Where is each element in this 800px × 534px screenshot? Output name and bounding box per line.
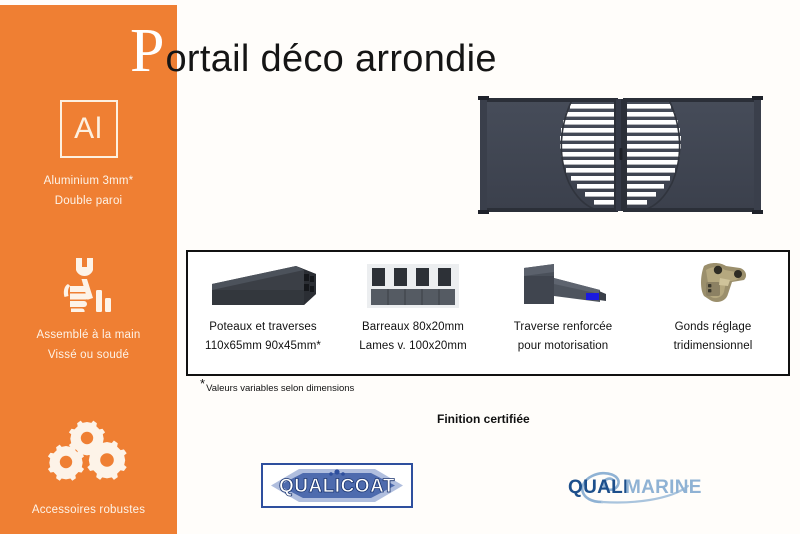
feature-label-line1: Traverse renforcée [514,318,613,337]
qualimarine-logo-text-bold: QUALI [568,477,629,498]
footnote-text: Valeurs variables selon dimensions [206,379,354,395]
hinge-icon [670,258,756,314]
page-root: Al Aluminium 3mm* Double paroi [0,0,800,534]
gears-icon [0,420,177,486]
qualicoat-logo: QUALICOAT [261,463,413,508]
sidebar-item-aluminium-line1: Aluminium 3mm* [0,171,177,191]
gate-image [477,93,764,217]
feature-label-line2: 110x65mm 90x45mm* [205,337,321,356]
feature-item: Barreaux 80x20mm Lames v. 100x20mm [338,252,488,374]
page-title: P ortail déco arrondie [130,22,497,83]
feature-label-line1: Barreaux 80x20mm [362,318,464,337]
feature-label-line1: Poteaux et traverses [209,318,316,337]
post-profile-icon [204,258,322,314]
feature-item: Traverse renforcée pour motorisation [488,252,638,374]
feature-label-line2: Lames v. 100x20mm [359,337,467,356]
sidebar-item-assemble-line2: Vissé ou soudé [0,345,177,365]
footnote: * Valeurs variables selon dimensions [200,379,354,395]
qualimarine-logo-text-light: MARINE [625,477,702,498]
sidebar-item-assemble: Assemblé à la main Vissé ou soudé [0,253,177,365]
sidebar-item-aluminium: Al Aluminium 3mm* Double paroi [0,100,177,211]
qualimarine-logo: QUALI MARINE [562,466,712,508]
feature-label-line2: tridimensionnel [674,337,753,356]
page-title-text: ortail déco arrondie [165,35,496,83]
feature-label-line1: Gonds réglage [675,318,752,337]
sidebar-item-accessoires-line1: Accessoires robustes [0,500,177,520]
wrench-hand-icon [0,253,177,315]
sidebar-item-assemble-line1: Assemblé à la main [0,325,177,345]
page-title-capital: P [130,22,164,80]
aluminium-square-icon: Al [60,100,118,158]
features-box: Poteaux et traverses 110x65mm 90x45mm* [186,250,790,376]
sidebar-item-aluminium-line2: Double paroi [0,191,177,211]
reinforced-crossbar-icon [508,258,618,314]
bars-slats-icon [365,258,461,314]
qualicoat-logo-text: QUALICOAT [279,476,395,497]
feature-label-line2: pour motorisation [518,337,609,356]
sidebar-item-accessoires: Accessoires robustes [0,420,177,520]
footnote-star: * [200,379,205,389]
feature-item: Poteaux et traverses 110x65mm 90x45mm* [188,252,338,374]
feature-item: Gonds réglage tridimensionnel [638,252,788,374]
certification-title: Finition certifiée [437,412,530,426]
aluminium-icon-label: Al [74,114,103,144]
